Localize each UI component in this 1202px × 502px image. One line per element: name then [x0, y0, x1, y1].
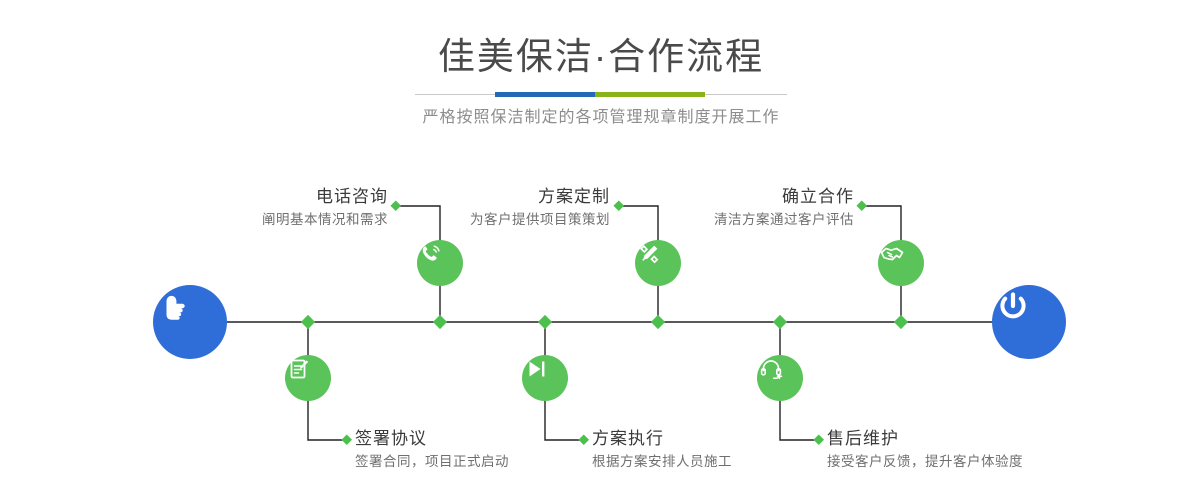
step-desc-5: 清洁方案通过客户评估: [620, 210, 854, 230]
label-diamond-2: [341, 434, 352, 445]
timeline-diamond-6: [773, 315, 787, 329]
step-desc-4: 根据方案安排人员施工: [592, 452, 732, 472]
timeline-diamond-4: [538, 315, 552, 329]
step-desc-6: 接受客户反馈，提升客户体验度: [827, 452, 1023, 472]
label-diamond-5: [856, 200, 867, 211]
label-diamond-6: [813, 434, 824, 445]
step-name-4: 方案执行: [592, 428, 732, 450]
step-name-3: 方案定制: [370, 186, 610, 208]
step-name-5: 确立合作: [620, 186, 854, 208]
step-label-3: 方案定制 为客户提供项目策策划: [370, 186, 610, 230]
step-desc-3: 为客户提供项目策策划: [370, 210, 610, 230]
step-label-1: 电话咨询 阐明基本情况和需求: [120, 186, 388, 230]
step-label-5: 确立合作 清洁方案通过客户评估: [620, 186, 854, 230]
step-icon-1[interactable]: [417, 240, 463, 286]
step-label-2: 签署协议 签署合同，项目正式启动: [355, 428, 509, 472]
step-icon-2[interactable]: [285, 355, 331, 401]
step-name-6: 售后维护: [827, 428, 1023, 450]
step-label-6: 售后维护 接受客户反馈，提升客户体验度: [827, 428, 1023, 472]
flow-connectors: [0, 0, 1202, 502]
label-diamond-4: [578, 434, 589, 445]
step-name-2: 签署协议: [355, 428, 509, 450]
step-desc-2: 签署合同，项目正式启动: [355, 452, 509, 472]
step-desc-1: 阐明基本情况和需求: [120, 210, 388, 230]
timeline-diamond-1: [433, 315, 447, 329]
timeline-diamond-3: [651, 315, 665, 329]
process-flow: 电话咨询 阐明基本情况和需求 方案定制 为客户提供项目策策划 确立合作 清洁方案…: [0, 0, 1202, 502]
step-icon-3[interactable]: [635, 240, 681, 286]
cooperation-process-infographic: 佳美保洁·合作流程 严格按照保洁制定的各项管理规章制度开展工作: [0, 0, 1202, 502]
flow-start-node[interactable]: [153, 285, 227, 359]
step-icon-6[interactable]: [757, 355, 803, 401]
timeline-diamond-2: [301, 315, 315, 329]
step-label-4: 方案执行 根据方案安排人员施工: [592, 428, 732, 472]
step-icon-4[interactable]: [522, 355, 568, 401]
step-icon-5[interactable]: [878, 240, 924, 286]
timeline-diamond-5: [894, 315, 908, 329]
flow-end-node[interactable]: [992, 285, 1066, 359]
step-name-1: 电话咨询: [120, 186, 388, 208]
